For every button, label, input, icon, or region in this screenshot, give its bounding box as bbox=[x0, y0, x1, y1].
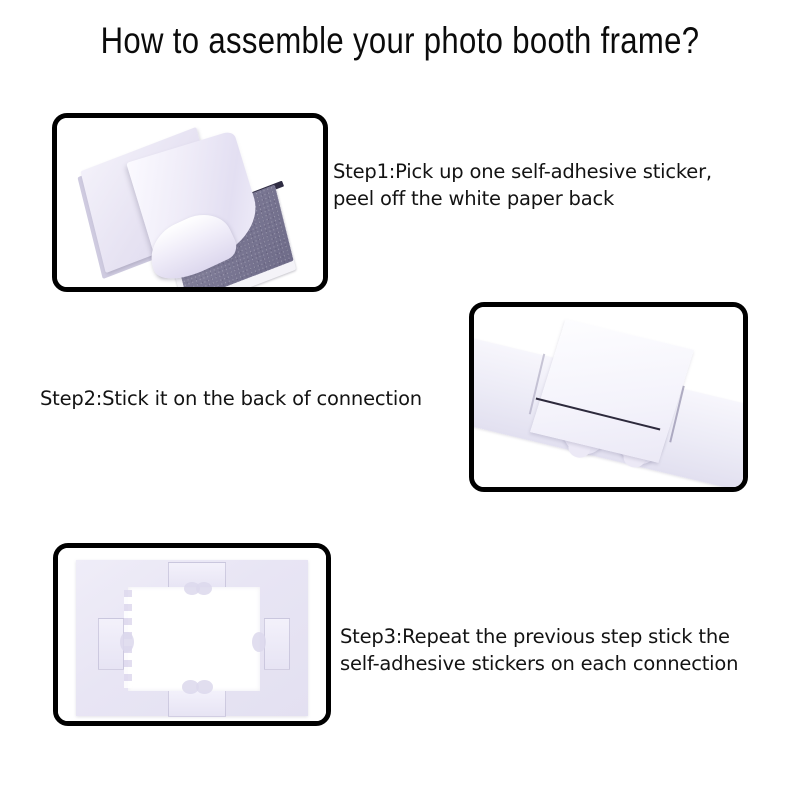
frame-tab-bottom bbox=[168, 690, 226, 717]
frame-scallop bbox=[196, 680, 213, 694]
page-title: How to assemble your photo booth frame? bbox=[64, 18, 736, 64]
step-3-instruction-text: Step3:Repeat the previous step stick the… bbox=[340, 623, 780, 677]
frame-scallop bbox=[120, 632, 134, 652]
frame-scallop bbox=[196, 582, 212, 595]
sticker-on-connection-illustration bbox=[474, 307, 743, 487]
step-2-photo bbox=[474, 307, 743, 487]
step-3-photo-panel bbox=[53, 543, 331, 726]
frame-scallop bbox=[252, 632, 266, 652]
assembled-frame-illustration bbox=[58, 548, 326, 721]
photo-booth-frame bbox=[76, 560, 308, 716]
step-1-photo-panel bbox=[52, 113, 328, 292]
step-3-photo bbox=[58, 548, 326, 721]
sticker-peel-illustration bbox=[57, 118, 323, 287]
step-2-photo-panel bbox=[469, 302, 748, 492]
step-2-instruction-text: Step2:Stick it on the back of connection bbox=[40, 385, 470, 412]
step-1-instruction-text: Step1:Pick up one self-adhesive sticker,… bbox=[333, 158, 763, 212]
step-1-photo bbox=[57, 118, 323, 287]
frame-tab-right bbox=[264, 618, 290, 670]
instruction-page: How to assemble your photo booth frame? … bbox=[0, 0, 800, 800]
frame-window-opening bbox=[128, 587, 260, 691]
